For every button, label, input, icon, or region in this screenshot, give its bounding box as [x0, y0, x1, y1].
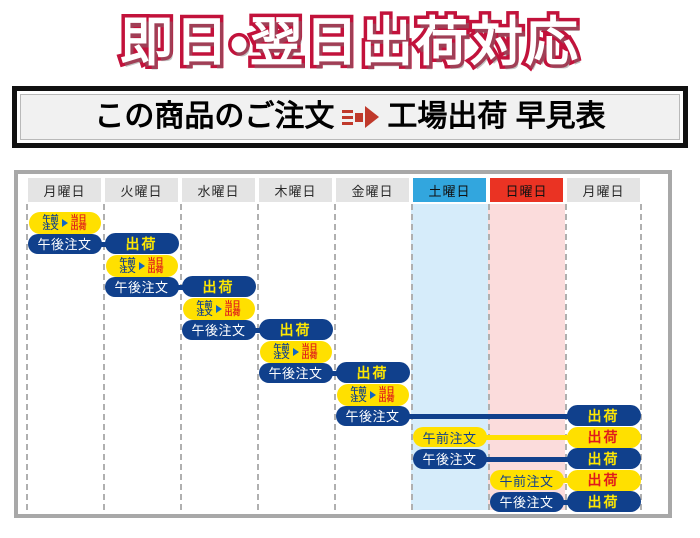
ship-pill[interactable]: 出荷 [336, 362, 410, 383]
subtitle-inner-panel: この商品のご注文 工場出荷 早見表 [20, 94, 680, 140]
am-order-label: 午前注文 [197, 301, 213, 318]
column-separator [103, 204, 105, 510]
am-order-label: 午前注文 [43, 215, 59, 232]
connector-line [473, 457, 581, 462]
column-header-5: 土曜日 [413, 178, 486, 202]
same-day-ship-label: 当日出荷 [225, 301, 241, 318]
weekend-band-sunday [488, 204, 565, 510]
column-separator [180, 204, 182, 510]
order-pill[interactable]: 午後注文 [259, 363, 333, 383]
order-pill[interactable]: 午後注文 [336, 406, 410, 426]
arrow-dashes [342, 108, 353, 126]
subtitle-banner: この商品のご注文 工場出荷 早見表 [12, 86, 688, 148]
arrow-right-icon [370, 391, 376, 399]
column-separator [334, 204, 336, 510]
same-day-shipping-badge[interactable]: 午前注文当日出荷 [337, 384, 409, 406]
column-header-4: 金曜日 [336, 178, 409, 202]
ship-pill[interactable]: 出荷 [567, 448, 641, 469]
arrow-right-icon [62, 219, 68, 227]
am-order-label: 午前注文 [120, 258, 136, 275]
same-day-shipping-badge[interactable]: 午前注文当日出荷 [29, 212, 101, 234]
order-pill[interactable]: 午後注文 [182, 320, 256, 340]
subtitle-text-before: この商品のご注文 [94, 102, 334, 132]
column-header-2: 水曜日 [182, 178, 255, 202]
order-pill[interactable]: 午後注文 [413, 449, 487, 469]
ship-pill[interactable]: 出荷 [567, 470, 641, 491]
column-header-7: 月曜日 [567, 178, 640, 202]
column-header-1: 火曜日 [105, 178, 178, 202]
column-separator [26, 204, 28, 510]
order-pill[interactable]: 午前注文 [490, 470, 564, 490]
schedule-table: 月曜日火曜日水曜日木曜日金曜日土曜日日曜日月曜日午前注文当日出荷午後注文出荷午前… [14, 170, 672, 518]
arrow-stem [355, 113, 363, 122]
column-header-3: 木曜日 [259, 178, 332, 202]
order-pill[interactable]: 午後注文 [490, 492, 564, 512]
same-day-shipping-badge[interactable]: 午前注文当日出荷 [106, 255, 178, 277]
am-order-label: 午前注文 [274, 344, 290, 361]
ship-pill[interactable]: 出荷 [105, 233, 179, 254]
schedule-grid: 月曜日火曜日水曜日木曜日金曜日土曜日日曜日月曜日午前注文当日出荷午後注文出荷午前… [18, 174, 668, 514]
order-pill[interactable]: 午後注文 [28, 234, 102, 254]
ship-pill[interactable]: 出荷 [567, 405, 641, 426]
arrow-right-icon [293, 348, 299, 356]
same-day-shipping-badge[interactable]: 午前注文当日出荷 [260, 341, 332, 363]
ship-pill[interactable]: 出荷 [567, 427, 641, 448]
same-day-ship-label: 当日出荷 [148, 258, 164, 275]
same-day-ship-label: 当日出荷 [302, 344, 318, 361]
column-separator [411, 204, 413, 510]
column-separator [488, 204, 490, 510]
order-pill[interactable]: 午後注文 [105, 277, 179, 297]
right-arrow-icon [342, 106, 379, 128]
same-day-shipping-badge[interactable]: 午前注文当日出荷 [183, 298, 255, 320]
ship-pill[interactable]: 出荷 [567, 491, 641, 512]
hero-banner: 即日・翌日出荷対応 [0, 0, 700, 84]
arrow-head [365, 106, 379, 128]
arrow-right-icon [139, 262, 145, 270]
ship-pill[interactable]: 出荷 [182, 276, 256, 297]
column-separator [640, 204, 642, 510]
connector-line [473, 435, 581, 440]
page-title: 即日・翌日出荷対応 [120, 16, 580, 69]
column-separator [565, 204, 567, 510]
order-pill[interactable]: 午前注文 [413, 427, 487, 447]
same-day-ship-label: 当日出荷 [379, 387, 395, 404]
connector-line [396, 414, 581, 419]
column-header-0: 月曜日 [28, 178, 101, 202]
same-day-ship-label: 当日出荷 [71, 215, 87, 232]
subtitle-text-after: 工場出荷 早見表 [387, 102, 605, 132]
column-header-6: 日曜日 [490, 178, 563, 202]
ship-pill[interactable]: 出荷 [259, 319, 333, 340]
column-separator [257, 204, 259, 510]
arrow-right-icon [216, 305, 222, 313]
am-order-label: 午前注文 [351, 387, 367, 404]
